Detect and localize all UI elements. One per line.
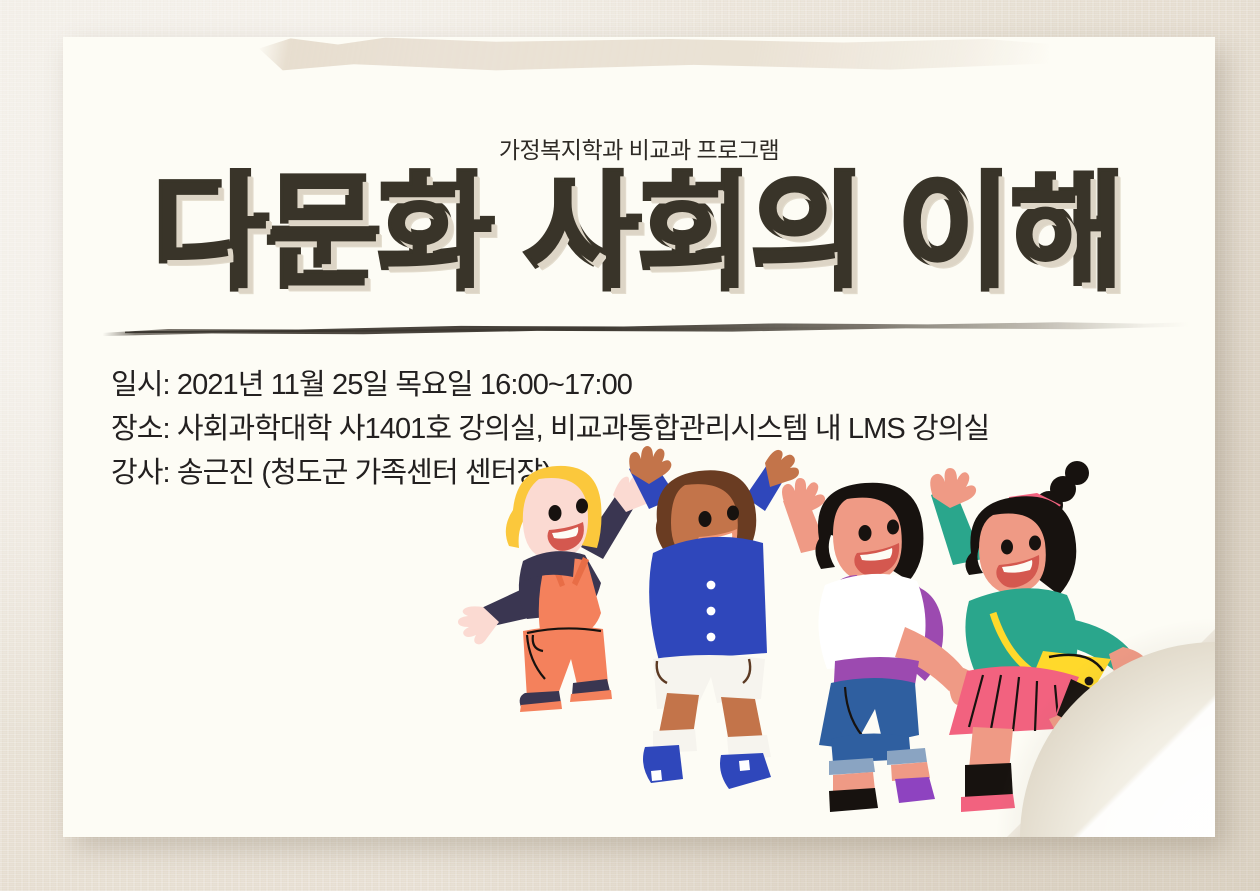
poster-subtitle: 가정복지학과 비교과 프로그램 bbox=[63, 131, 1215, 165]
illustration-child-1 bbox=[458, 466, 655, 712]
detail-line-date: 일시: 2021년 11월 25일 목요일 16:00~17:00 bbox=[111, 363, 989, 407]
poster-title: 다문화 사회의 이해 bbox=[63, 169, 1215, 299]
illustration-child-2 bbox=[629, 446, 799, 789]
brush-divider bbox=[103, 317, 1188, 340]
children-illustration bbox=[453, 435, 1153, 825]
illustration-child-4 bbox=[930, 461, 1149, 812]
poster-card: 가정복지학과 비교과 프로그램 다문화 사회의 이해 일시: 2021년 11월… bbox=[63, 37, 1215, 837]
top-brush-stroke bbox=[259, 37, 1049, 71]
